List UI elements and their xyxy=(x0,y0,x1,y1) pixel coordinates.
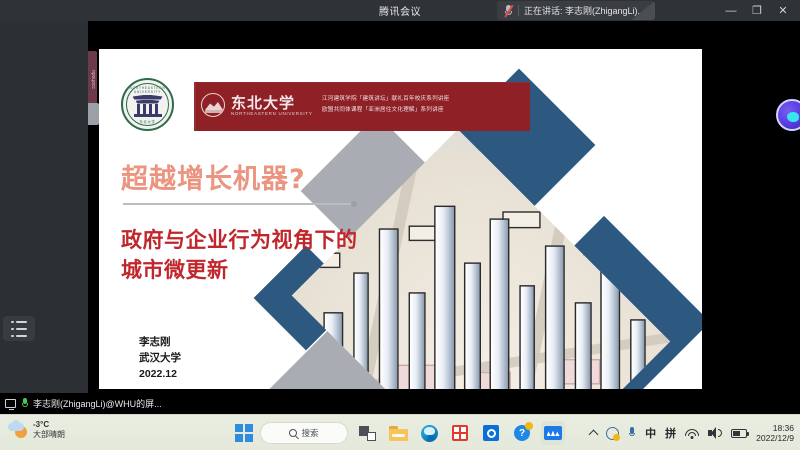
slide-subtitle-line-2: 城市微更新 xyxy=(121,254,229,284)
divider xyxy=(518,5,519,16)
list-icon xyxy=(11,318,27,339)
clock-date: 2022/12/9 xyxy=(756,433,794,443)
banner-lecture-lines: 江河建筑学院「建筑讲坛」献礼百年校庆系列讲座 欧盟共同体课程「亚洲居住文化理解」… xyxy=(322,94,522,116)
banner-line-1: 江河建筑学院「建筑讲坛」献礼百年校庆系列讲座 xyxy=(322,94,522,105)
wifi-icon[interactable] xyxy=(685,428,699,439)
seal-bottom-text: 东北大学 xyxy=(123,119,172,124)
maximize-button[interactable]: ❐ xyxy=(744,0,770,21)
store-icon xyxy=(452,425,468,441)
slide-side-handle[interactable] xyxy=(88,103,99,125)
clock[interactable]: 18:36 2022/12/9 xyxy=(756,423,794,443)
taskbar-item-microsoft-edge[interactable] xyxy=(417,421,441,445)
window-title: 腾讯会议 xyxy=(0,3,800,18)
chevron-up-icon xyxy=(589,430,599,440)
taskbar-item-task-view[interactable] xyxy=(355,421,379,445)
taskbar-item-outlook[interactable] xyxy=(479,421,503,445)
author-date: 2022.12 xyxy=(139,366,181,382)
taskbar-item-get-help[interactable]: ? xyxy=(510,421,534,445)
participants-list-button[interactable] xyxy=(3,316,35,341)
tray-microphone-icon[interactable] xyxy=(628,427,636,439)
speaker-avatar[interactable] xyxy=(776,99,800,131)
taskbar-item-tencent-meeting[interactable] xyxy=(541,421,565,445)
ime-pinyin-indicator[interactable]: 拼 xyxy=(665,425,676,441)
outlook-icon xyxy=(483,425,499,441)
clock-time: 18:36 xyxy=(756,423,794,433)
volume-icon[interactable] xyxy=(708,427,722,439)
left-rail xyxy=(0,21,88,393)
video-stage: процесс xyxy=(0,21,800,393)
security-center-icon[interactable] xyxy=(606,427,619,440)
windows-taskbar: -3°C 大部晴朗 搜索 xyxy=(0,414,800,450)
show-hidden-icons-button[interactable] xyxy=(590,428,597,438)
search-placeholder: 搜索 xyxy=(301,427,318,439)
slide-title-main: 超越增长机器? xyxy=(121,157,306,196)
tencent-meeting-window: 腾讯会议 正在讲话: 李志刚(ZhigangLi)... — ❐ ✕ xyxy=(0,0,800,414)
title-divider xyxy=(123,203,353,205)
taskbar-item-file-explorer[interactable] xyxy=(386,421,410,445)
start-button[interactable] xyxy=(235,424,253,442)
speaking-label: 正在讲话: 李志刚(ZhigangLi)... xyxy=(524,4,645,17)
system-tray: 中 拼 18:36 2022/12/9 xyxy=(590,415,796,450)
author-name: 李志刚 xyxy=(139,334,181,350)
battery-icon[interactable] xyxy=(731,429,747,438)
slide-author-block: 李志刚 武汉大学 2022.12 xyxy=(139,334,181,382)
close-button[interactable]: ✕ xyxy=(770,0,796,21)
banner-university-cn: 东北大学 xyxy=(231,92,295,113)
banner-line-2: 欧盟共同体课程「亚洲居住文化理解」系列讲座 xyxy=(322,105,522,116)
tencent-meeting-icon xyxy=(544,426,562,440)
minimize-button[interactable]: — xyxy=(718,0,744,21)
search-icon xyxy=(289,429,297,437)
taskbar-item-microsoft-store[interactable] xyxy=(448,421,472,445)
mic-muted-icon xyxy=(504,5,513,17)
slide-side-tab[interactable]: процесс xyxy=(88,51,97,105)
ime-mode-indicator[interactable]: 中 xyxy=(645,425,656,441)
banner-university-en: NORTHEASTERN UNIVERSITY xyxy=(231,111,313,116)
screen-share-label: 李志刚(ZhigangLi)@WHU的屏... xyxy=(33,397,162,410)
speaking-indicator: 正在讲话: 李志刚(ZhigangLi)... xyxy=(497,1,655,20)
search-box[interactable]: 搜索 xyxy=(260,422,348,444)
screen-share-icon xyxy=(5,399,16,408)
folder-icon xyxy=(389,426,408,441)
university-seal: NORTHEASTERN UNIVERSITY 东北大学 xyxy=(121,78,174,131)
author-affiliation: 武汉大学 xyxy=(139,350,181,366)
window-titlebar: 腾讯会议 正在讲话: 李志刚(ZhigangLi)... — ❐ ✕ xyxy=(0,0,800,21)
neu-logo-icon xyxy=(201,93,225,117)
screen: 腾讯会议 正在讲话: 李志刚(ZhigangLi)... — ❐ ✕ xyxy=(0,0,800,450)
microphone-icon xyxy=(21,398,28,409)
screen-share-status-bar: 李志刚(ZhigangLi)@WHU的屏... xyxy=(0,393,800,414)
gate-icon xyxy=(133,93,163,117)
badge-corner-decor xyxy=(631,1,655,20)
task-view-icon xyxy=(359,426,376,441)
shared-slide: NORTHEASTERN UNIVERSITY 东北大学 东北大 xyxy=(99,49,702,389)
help-icon: ? xyxy=(514,425,530,441)
edge-icon xyxy=(421,425,438,442)
slide-subtitle-line-1: 政府与企业行为视角下的 xyxy=(121,224,358,254)
lecture-banner: 东北大学 NORTHEASTERN UNIVERSITY 江河建筑学院「建筑讲坛… xyxy=(194,82,530,131)
